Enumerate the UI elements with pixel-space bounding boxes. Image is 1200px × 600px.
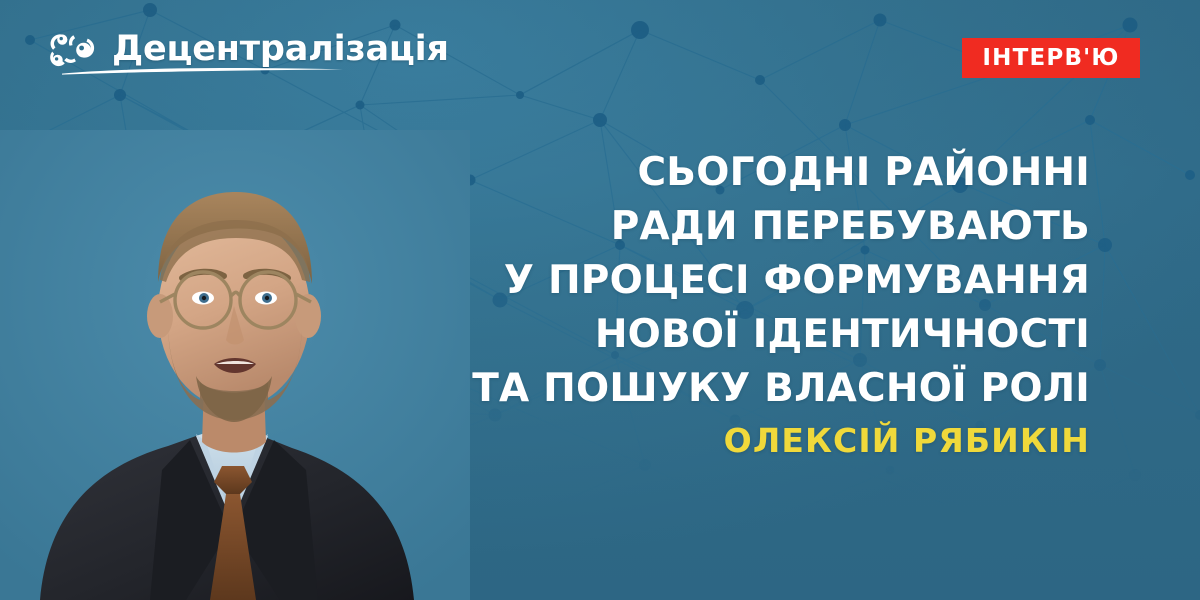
headline-block: СЬОГОДНІ РАЙОННІ РАДИ ПЕРЕБУВАЮТЬ У ПРОЦ… [390,146,1090,462]
headline-line-4: НОВОЇ ІДЕНТИЧНОСТІ [390,308,1090,362]
site-logo[interactable]: Децентралізація [42,28,449,78]
interview-promo-banner: Децентралізація ІНТЕРВ'Ю СЬОГОДНІ РАЙОНН… [0,0,1200,600]
interview-badge-label: ІНТЕРВ'Ю [982,45,1119,71]
headline-line-5: ТА ПОШУКУ ВЛАСНОЇ РОЛІ [390,362,1090,416]
headline-line-3: У ПРОЦЕСІ ФОРМУВАННЯ [390,254,1090,308]
logo-wordmark: Децентралізація [112,29,449,69]
headline-line-2: РАДИ ПЕРЕБУВАЮТЬ [390,200,1090,254]
speaker-name: ОЛЕКСІЙ РЯБИКІН [390,420,1090,462]
interview-badge: ІНТЕРВ'Ю [962,38,1140,78]
logo-underline-swoosh [60,66,345,75]
headline-line-1: СЬОГОДНІ РАЙОННІ [390,146,1090,200]
